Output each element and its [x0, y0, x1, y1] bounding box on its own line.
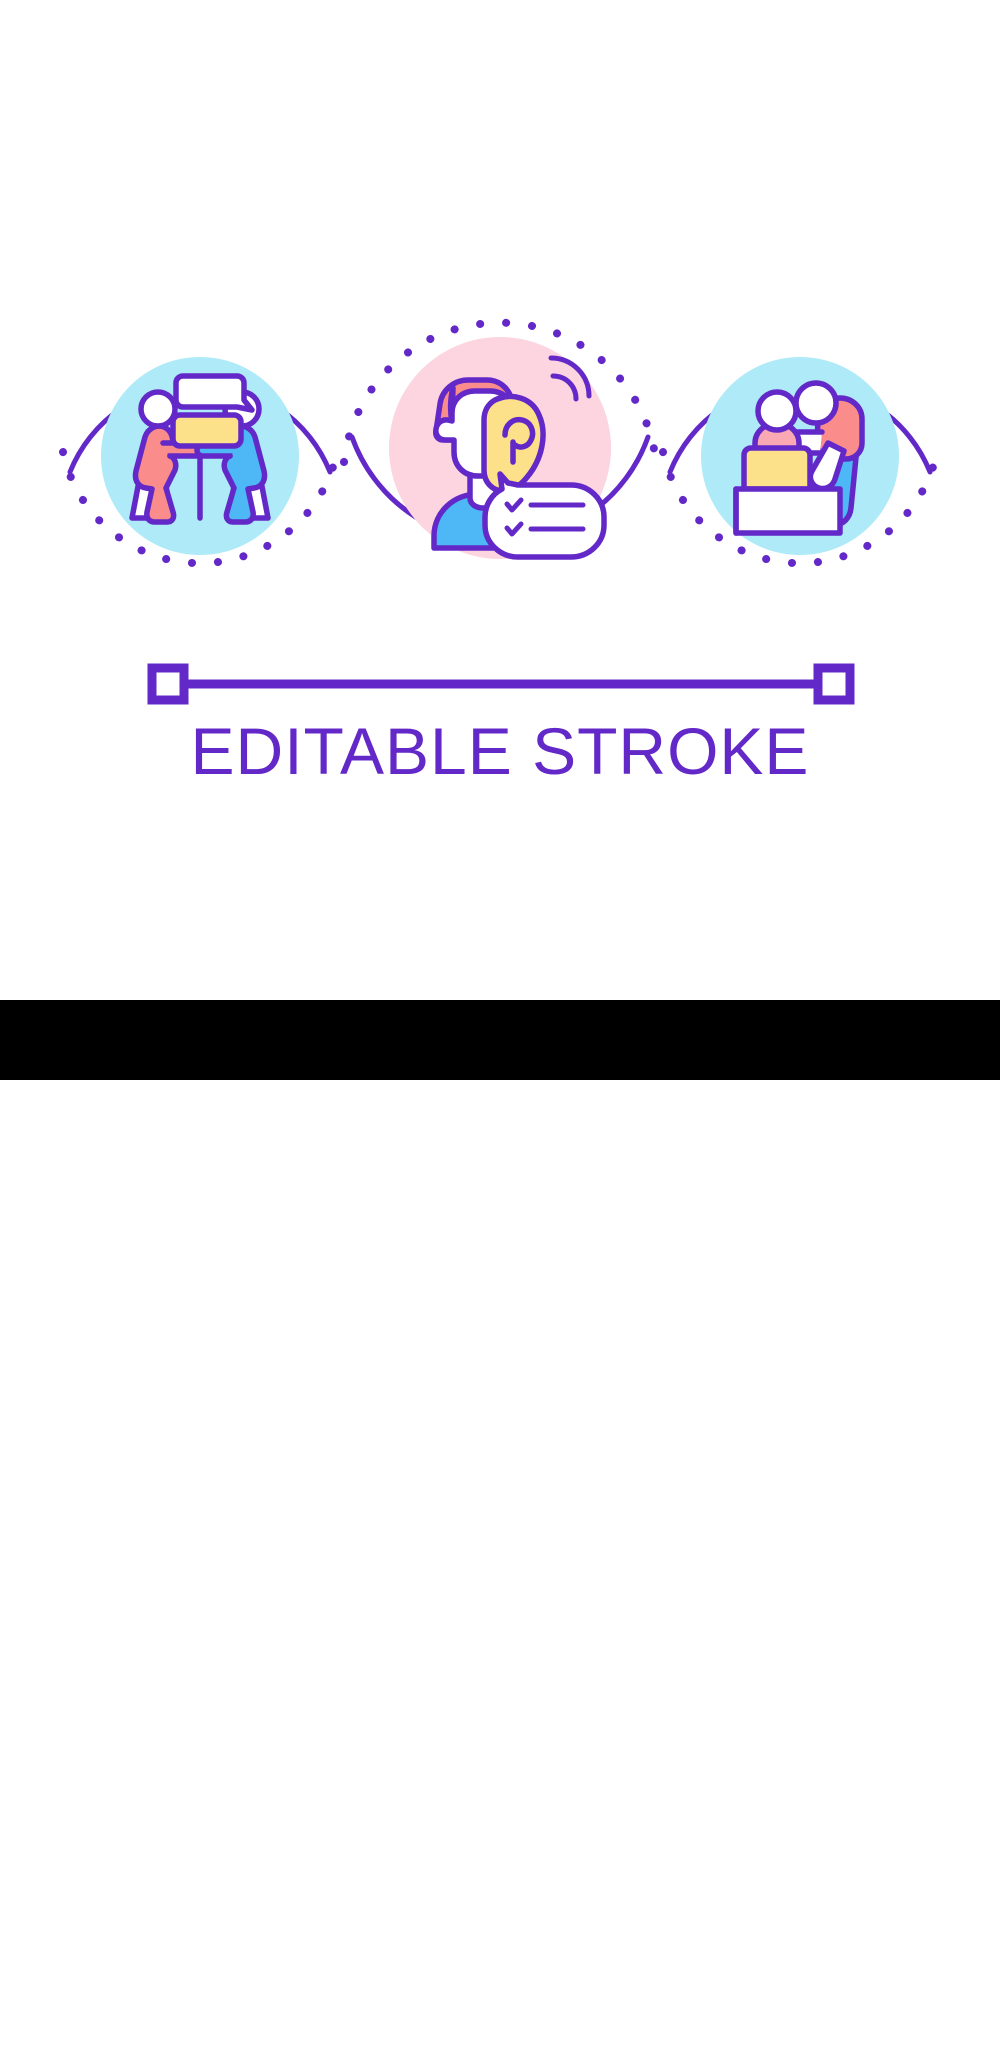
vectorstock-url: VectorStock.com/44881701: [604, 2021, 978, 2061]
two-people-at-table-talking-icon: [132, 376, 268, 522]
editable-stroke-label: EDITABLE STROKE: [0, 712, 1000, 790]
loop-concept-artwork: [0, 0, 1000, 1080]
illustration-canvas: EDITABLE STROKE VectorStock VectorStock.…: [0, 0, 1000, 1080]
editable-stroke-widget: [152, 668, 850, 700]
node-right-group: [663, 357, 937, 563]
node-left-group: [63, 357, 337, 563]
stroke-widget-handle-right[interactable]: [818, 668, 850, 700]
node-center-group: [344, 323, 656, 559]
stroke-widget-handle-left[interactable]: [152, 668, 184, 700]
watermark-bar: VectorStock VectorStock.com/44881701: [0, 1000, 1000, 1080]
vectorstock-logo: VectorStock: [24, 2017, 205, 2061]
